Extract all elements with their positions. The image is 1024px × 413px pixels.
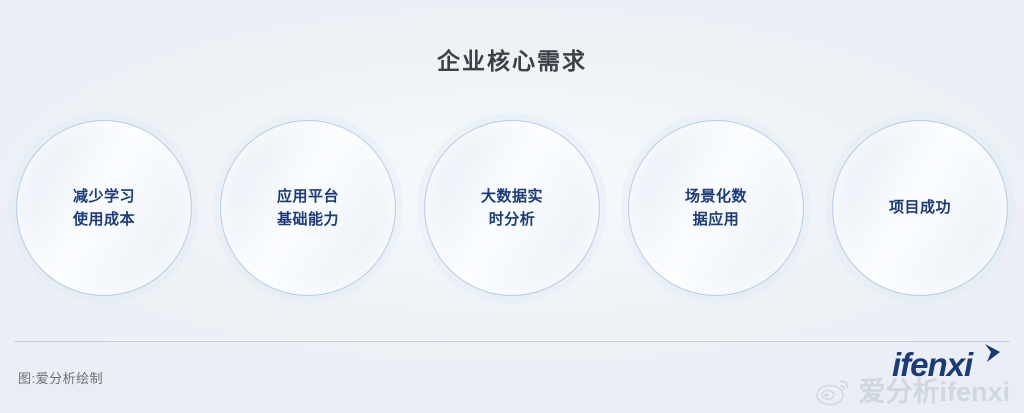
ifenxi-logo: ifenxi — [890, 342, 1006, 386]
requirement-label-3: 大数据实 时分析 — [481, 185, 543, 232]
page-title: 企业核心需求 — [0, 42, 1024, 76]
requirement-circle-4[interactable]: 场景化数 据应用 — [628, 120, 804, 296]
requirement-circle-5[interactable]: 项目成功 — [832, 120, 1008, 296]
requirement-label-2: 应用平台 基础能力 — [277, 185, 339, 232]
requirement-label-5: 项目成功 — [889, 196, 951, 219]
weibo-icon — [816, 377, 852, 407]
requirement-circle-1[interactable]: 减少学习 使用成本 — [16, 120, 192, 296]
slide-canvas: 企业核心需求 减少学习 使用成本 应用平台 基础能力 大数据实 时分析 场景化数… — [0, 0, 1024, 413]
requirement-circle-2[interactable]: 应用平台 基础能力 — [220, 120, 396, 296]
source-caption: 图:爱分析绘制 — [18, 368, 103, 387]
footer-divider — [14, 341, 1010, 342]
requirement-label-4: 场景化数 据应用 — [685, 185, 747, 232]
requirement-circle-3[interactable]: 大数据实 时分析 — [424, 120, 600, 296]
core-requirements-row: 减少学习 使用成本 应用平台 基础能力 大数据实 时分析 场景化数 据应用 项目… — [0, 118, 1024, 298]
requirement-label-1: 减少学习 使用成本 — [73, 185, 135, 232]
svg-text:ifenxi: ifenxi — [892, 346, 974, 383]
